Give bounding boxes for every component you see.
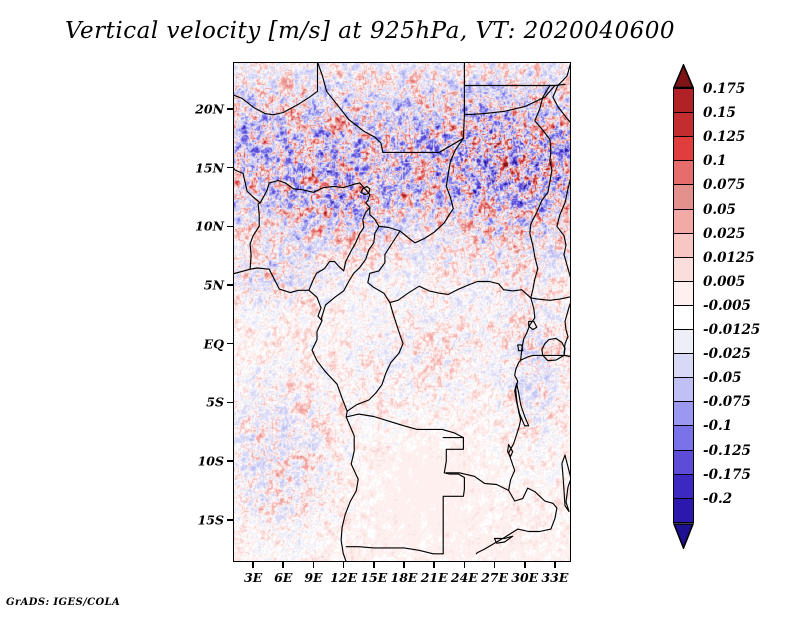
lon-tick-label-15e: 15E [360, 570, 387, 585]
colorbar-swatch-2 [673, 136, 694, 162]
colorbar-label-7: 0.0125 [703, 250, 755, 266]
colorbar-label-12: -0.05 [703, 370, 741, 386]
lon-tick-mark [433, 562, 435, 568]
lon-tick-mark [343, 562, 345, 568]
lat-tick-label-10s: 10S [198, 454, 224, 469]
lat-tick-label-15s: 15S [198, 512, 224, 527]
colorbar-min-arrow [673, 523, 694, 547]
colorbar-swatch-11 [673, 353, 694, 379]
lat-tick-label-10n: 10N [195, 219, 224, 234]
colorbar-label-16: -0.175 [703, 467, 751, 483]
colorbar-swatch-5 [673, 209, 694, 235]
colorbar-label-2: 0.125 [703, 129, 745, 145]
lon-tick-label-18e: 18E [391, 570, 418, 585]
colorbar-swatch-14 [673, 425, 694, 451]
colorbar-swatch-9 [673, 305, 694, 331]
lat-tick-label-15n: 15N [195, 160, 224, 175]
colorbar-label-17: -0.2 [703, 491, 732, 507]
lat-tick-mark [227, 226, 233, 228]
lon-tick-label-12e: 12E [330, 570, 357, 585]
lon-tick-mark [524, 562, 526, 568]
page-title: Vertical velocity [m/s] at 925hPa, VT: 2… [0, 18, 740, 44]
lon-tick-label-24e: 24E [451, 570, 478, 585]
lon-tick-label-9e: 9E [304, 570, 322, 585]
colorbar-label-1: 0.15 [703, 105, 736, 121]
lat-tick-mark [227, 343, 233, 345]
colorbar-swatch-6 [673, 233, 694, 259]
colorbar-swatch-8 [673, 281, 694, 307]
lon-tick-label-21e: 21E [421, 570, 448, 585]
colorbar-label-13: -0.075 [703, 394, 751, 410]
lon-tick-mark [464, 562, 466, 568]
colorbar: 0.1750.150.1250.10.0750.050.0250.01250.0… [673, 62, 793, 562]
lon-tick-label-33e: 33E [541, 570, 568, 585]
lat-tick-mark [227, 402, 233, 404]
colorbar-swatch-16 [673, 474, 694, 500]
lat-tick-label-5s: 5S [206, 395, 224, 410]
lon-tick-mark [282, 562, 284, 568]
colorbar-label-0: 0.175 [703, 81, 745, 97]
colorbar-label-4: 0.075 [703, 177, 745, 193]
lon-tick-mark [403, 562, 405, 568]
colorbar-label-5: 0.05 [703, 202, 736, 218]
lon-tick-mark [373, 562, 375, 568]
lat-tick-label-eq: EQ [204, 336, 224, 351]
colorbar-swatch-12 [673, 377, 694, 403]
lon-tick-mark [494, 562, 496, 568]
lat-tick-label-5n: 5N [204, 278, 224, 293]
lat-tick-label-20n: 20N [195, 101, 224, 116]
footer-credit: GrADS: IGES/COLA [6, 597, 120, 608]
colorbar-swatch-3 [673, 160, 694, 186]
colorbar-swatch-10 [673, 329, 694, 355]
lon-tick-mark [313, 562, 315, 568]
colorbar-label-10: -0.0125 [703, 322, 760, 338]
lon-tick-label-3e: 3E [244, 570, 262, 585]
lon-tick-label-6e: 6E [274, 570, 292, 585]
colorbar-label-11: -0.025 [703, 346, 751, 362]
lat-tick-mark [227, 284, 233, 286]
map-frame [233, 62, 571, 562]
colorbar-label-6: 0.025 [703, 226, 745, 242]
lon-tick-mark [252, 562, 254, 568]
lat-tick-mark [227, 460, 233, 462]
lat-tick-mark [227, 108, 233, 110]
colorbar-swatch-13 [673, 401, 694, 427]
colorbar-swatch-4 [673, 184, 694, 210]
lon-tick-label-27e: 27E [481, 570, 508, 585]
lon-tick-label-30e: 30E [511, 570, 538, 585]
colorbar-max-arrow [673, 64, 694, 88]
lon-tick-mark [554, 562, 556, 568]
lat-tick-mark [227, 519, 233, 521]
colorbar-swatch-0 [673, 88, 694, 114]
colorbar-swatch-17 [673, 498, 694, 524]
colorbar-label-3: 0.1 [703, 153, 727, 169]
colorbar-swatch-15 [673, 450, 694, 476]
colorbar-label-9: -0.005 [703, 298, 751, 314]
map-plot-area [233, 62, 571, 562]
colorbar-label-15: -0.125 [703, 443, 751, 459]
colorbar-label-14: -0.1 [703, 418, 732, 434]
lat-tick-mark [227, 167, 233, 169]
colorbar-swatch-1 [673, 112, 694, 138]
colorbar-swatch-7 [673, 257, 694, 283]
colorbar-label-8: 0.005 [703, 274, 745, 290]
